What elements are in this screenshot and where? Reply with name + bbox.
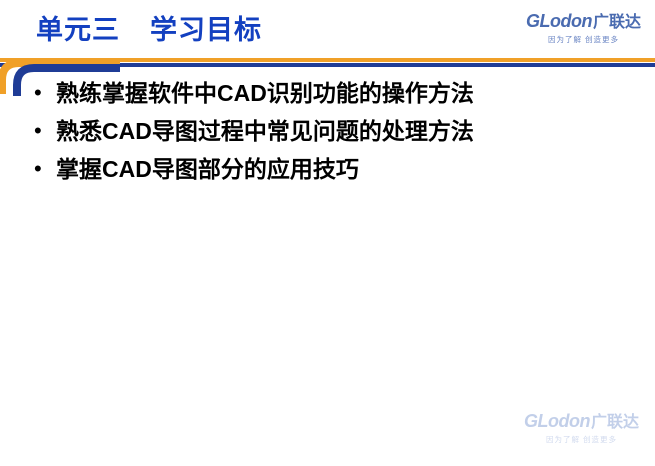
unit-title: 单元三 [36, 8, 120, 47]
brand-logo-header: GLodon广联达 因为了解 创造更多 [526, 12, 641, 44]
brand-wordmark-cn: 广联达 [593, 14, 641, 31]
brand-wordmark: GLodon广联达 [526, 12, 641, 31]
divider-band-blue [0, 63, 655, 67]
bullet-marker-icon: • [34, 116, 56, 146]
bullet-marker-icon: • [34, 154, 56, 184]
list-item: • 掌握CAD导图部分的应用技巧 [34, 154, 635, 184]
list-item: • 熟悉CAD导图过程中常见问题的处理方法 [34, 116, 635, 146]
bullet-text: 熟练掌握软件中CAD识别功能的操作方法 [56, 78, 474, 108]
list-item: • 熟练掌握软件中CAD识别功能的操作方法 [34, 78, 635, 108]
brand-tagline: 因为了解 创造更多 [524, 436, 639, 444]
brand-wordmark: GLodon广联达 [524, 412, 639, 431]
bullet-list: • 熟练掌握软件中CAD识别功能的操作方法 • 熟悉CAD导图过程中常见问题的处… [34, 78, 635, 192]
divider-band-orange [0, 58, 655, 62]
bullet-text: 掌握CAD导图部分的应用技巧 [56, 154, 359, 184]
brand-tagline: 因为了解 创造更多 [526, 36, 641, 44]
bullet-marker-icon: • [34, 78, 56, 108]
brand-wordmark-latin: GLodon [526, 11, 592, 31]
topic-title: 学习目标 [150, 8, 262, 47]
brand-wordmark-latin: GLodon [524, 411, 590, 431]
brand-wordmark-cn: 广联达 [591, 414, 639, 431]
brand-logo-watermark: GLodon广联达 因为了解 创造更多 [524, 412, 639, 444]
bullet-text: 熟悉CAD导图过程中常见问题的处理方法 [56, 116, 474, 146]
slide-title: 单元三 学习目标 [36, 8, 262, 47]
slide-canvas: 单元三 学习目标 GLodon广联达 因为了解 创造更多 • 熟练掌握软件中CA… [0, 0, 655, 466]
